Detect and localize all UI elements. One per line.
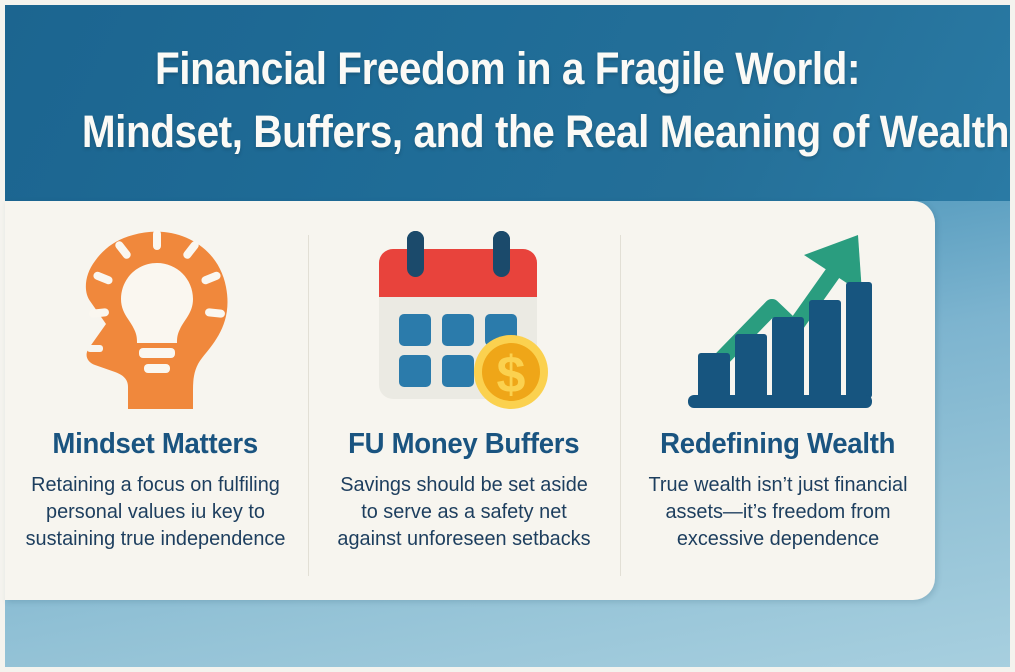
card-title-fu-money: FU Money Buffers [348, 428, 579, 461]
card-redefining-wealth[interactable]: Redefining Wealth True wealth isn’t just… [620, 201, 935, 600]
card-title-redefining-wealth: Redefining Wealth [660, 428, 895, 461]
card-mindset-matters[interactable]: Mindset Matters Retaining a focus on ful… [5, 201, 308, 600]
card-body-redefining-wealth: True wealth isn’t just financial assets—… [639, 471, 916, 552]
head-lightbulb-icon [13, 227, 298, 412]
card-body-mindset: Retaining a focus on fulfiling personal … [17, 471, 293, 552]
card-fu-money-buffers[interactable]: $ FU Money Buffers Savings should be set… [308, 201, 620, 600]
infographic-root: Financial Freedom in a Fragile World: Mi… [0, 0, 1015, 672]
svg-text:$: $ [497, 346, 526, 404]
header-band: Financial Freedom in a Fragile World: Mi… [5, 5, 1010, 201]
page-title-line-1: Financial Freedom in a Fragile World: [55, 39, 960, 99]
calendar-coin-icon: $ [318, 227, 610, 412]
page-title-line-2: Mindset, Buffers, and the Real Meaning o… [82, 102, 961, 162]
card-body-fu-money: Savings should be set aside to serve as … [332, 471, 596, 552]
card-title-mindset: Mindset Matters [53, 428, 258, 461]
cards-panel: Mindset Matters Retaining a focus on ful… [5, 201, 935, 600]
growth-bar-chart-icon [630, 227, 925, 412]
header-title-block: Financial Freedom in a Fragile World: Mi… [5, 39, 1010, 162]
